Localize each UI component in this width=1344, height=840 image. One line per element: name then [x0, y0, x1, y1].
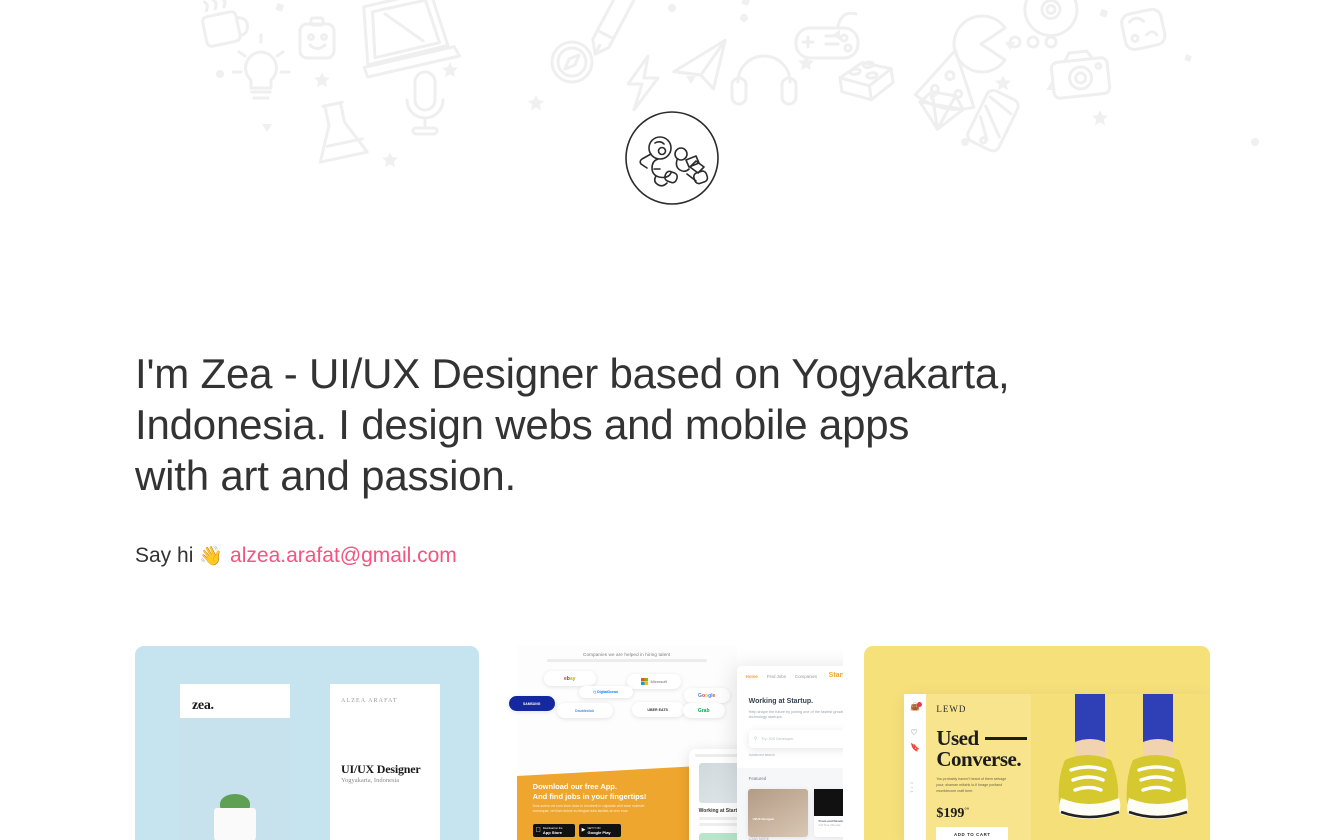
- bookmark-icon[interactable]: 🔖: [910, 743, 920, 752]
- company-chip-grab: Grab: [683, 703, 725, 718]
- featured-thumb-1[interactable]: UI/UX Designer: [748, 789, 808, 837]
- search-icon: ⚲: [754, 736, 758, 742]
- job-search-box[interactable]: ⚲ Try: iOS Developer Search: [749, 730, 844, 748]
- site-hero-heading: Working at Startup.: [749, 698, 813, 705]
- say-hi-label: Say hi: [135, 542, 193, 570]
- project-card-startupjobs[interactable]: Companies we are helped in hiring talent…: [500, 646, 844, 840]
- smartphone-icon: [965, 88, 1020, 153]
- app-store-badge[interactable]:  Download on the App Store: [533, 824, 575, 837]
- waving-hand-icon: 👋: [199, 547, 223, 566]
- cd-disc-icon: [1019, 0, 1082, 41]
- shop-description: You probably haven't heard of them selva…: [936, 776, 1014, 794]
- plant-photo: [180, 718, 290, 840]
- shop-page-mockup: 👜 ♡ 🔖 0 / 1: [904, 694, 1210, 840]
- email-link[interactable]: alzea.arafat@gmail.com: [230, 542, 457, 570]
- lightbulb-icon: [233, 35, 289, 98]
- project-card-business-card[interactable]: zea. ALZEA ARAFAT UI/UX Designer Yogyaka…: [135, 646, 479, 840]
- featured-label: Featured: [749, 776, 767, 781]
- plant-pot-icon: [214, 808, 256, 840]
- app-promo-line2: And find jobs in your fingertips!: [533, 792, 647, 801]
- shop-side-rail: 👜 ♡ 🔖 0 / 1: [904, 694, 926, 840]
- company-chip-microsoft: Microsoft: [627, 674, 681, 689]
- coffee-mug-icon: [199, 0, 251, 47]
- hero-section: I'm Zea - UI/UX Designer based on Yogyak…: [135, 348, 1145, 501]
- thumb-1-title: UI/UX Designer: [753, 817, 775, 821]
- cart-badge: [917, 702, 922, 707]
- pacman-icon: [954, 16, 1005, 72]
- card-name: ALZEA ARAFAT: [341, 698, 398, 704]
- thumb-2-sub: Full Time / Remote: [819, 824, 841, 827]
- site-hero-sub: Help shape the future by joining one of …: [749, 710, 844, 721]
- logo-part-startup: Startup: [829, 672, 844, 679]
- thumb-2-title: Front-end Developer: [819, 819, 844, 823]
- card-role: UI/UX Designer: [341, 762, 421, 777]
- company-chip-ebay: ebay: [544, 671, 596, 686]
- headphones-icon: [732, 56, 796, 104]
- startupjobs-landing-page: Companies we are helped in hiring talent…: [517, 646, 737, 840]
- laptop-icon: [355, 0, 461, 77]
- company-chip-ubereats: UBER EATS: [632, 702, 684, 717]
- contact-line: Say hi 👋 alzea.arafat@gmail.com: [135, 542, 457, 570]
- play-big: Google Play: [588, 831, 611, 834]
- price-superscript: °°: [964, 807, 969, 813]
- companies-heading: Companies we are helped in hiring talent: [517, 652, 737, 657]
- heart-icon[interactable]: ♡: [910, 728, 917, 737]
- company-chip-doubleclick: Doubleclick: [557, 703, 613, 718]
- page-title: I'm Zea - UI/UX Designer based on Yogyak…: [135, 348, 1145, 501]
- app-promo-body: Duis autem vel eum iriure dolor in hendr…: [533, 804, 653, 814]
- featured-thumb-2[interactable]: Front-end Developer Full Time / Remote: [814, 789, 844, 837]
- flask-icon: [309, 99, 367, 162]
- lego-head-icon: [300, 18, 334, 58]
- business-card-front: zea.: [180, 684, 290, 840]
- app-store-big: App Store: [543, 831, 562, 834]
- search-placeholder: Try: iOS Developer: [761, 737, 793, 741]
- gamepad-icon: [796, 13, 858, 58]
- shop-brand-logo: LEWD: [936, 704, 966, 714]
- pacman-dots-icon: [1010, 37, 1056, 47]
- startupjobs-website: Home Find Jobs Companies Startupjobs Sig…: [737, 666, 844, 840]
- camera-icon: [1050, 49, 1110, 99]
- bread-icon: [1120, 8, 1167, 52]
- business-card-back: ALZEA ARAFAT UI/UX Designer Yogyakarta, …: [330, 684, 440, 840]
- zea-logo: zea.: [192, 698, 214, 714]
- heading-dash: [985, 737, 1027, 740]
- project-card-converse-shop[interactable]: 👜 ♡ 🔖 0 / 1: [864, 646, 1210, 840]
- site-navbar: Home Find Jobs Companies: [737, 666, 844, 686]
- add-to-cart-button[interactable]: ADD TO CART: [936, 827, 1008, 840]
- site-hero: Working at Startup. Help shape the futur…: [737, 686, 844, 768]
- featured-section: Featured UI/UX Designer Front-end Develo…: [737, 768, 844, 840]
- paper-plane-icon: [670, 40, 733, 95]
- company-chip-digitalocean: ◻ DigitalOcean: [579, 686, 633, 698]
- app-promo-line1: Download our free App.: [533, 782, 617, 791]
- advanced-search-link[interactable]: Advanced search: [749, 753, 775, 757]
- astronaut-figure: [640, 137, 708, 186]
- startupjobs-logo: Startupjobs: [829, 672, 844, 679]
- heading-text-used: Used: [936, 728, 978, 749]
- pencil-icon: [587, 0, 635, 58]
- nav-item-companies[interactable]: Companies: [795, 674, 817, 679]
- pizza-icon: [914, 44, 985, 114]
- thumb-2-cover: [814, 789, 844, 816]
- apple-icon: : [536, 827, 541, 834]
- microphone-icon: [407, 72, 443, 134]
- lightning-bolt-icon: [628, 56, 658, 110]
- price-value: $199: [936, 806, 964, 821]
- nav-item-find-jobs[interactable]: Find Jobs: [767, 674, 786, 679]
- project-cards-row: zea. ALZEA ARAFAT UI/UX Designer Yogyaka…: [135, 646, 1210, 840]
- company-chip-google: Google: [684, 688, 730, 703]
- diamond-icon: [916, 90, 966, 133]
- compass-icon: [552, 42, 592, 82]
- converse-shoes-photo: [1031, 694, 1210, 840]
- star-icon: [216, 0, 1259, 167]
- shop-heading-line2: Converse.: [936, 749, 1021, 770]
- heading-underline: [547, 659, 707, 662]
- shop-heading-line1: Used: [936, 728, 1026, 749]
- card-location: Yogyakarta, Indonesia: [341, 777, 399, 784]
- product-price: $199°°: [936, 806, 969, 822]
- google-play-badge[interactable]: ▶ GET IT ON Google Play: [579, 824, 621, 837]
- company-chip-samsung: SAMSUNG: [509, 696, 555, 711]
- nav-item-home[interactable]: Home: [746, 674, 758, 679]
- astronaut-logo[interactable]: [624, 110, 720, 206]
- portfolio-landing-page: I'm Zea - UI/UX Designer based on Yogyak…: [0, 0, 1344, 840]
- rail-counter: 0 / 1: [909, 782, 913, 794]
- play-icon: ▶: [582, 828, 586, 833]
- lego-brick-icon: [838, 59, 895, 104]
